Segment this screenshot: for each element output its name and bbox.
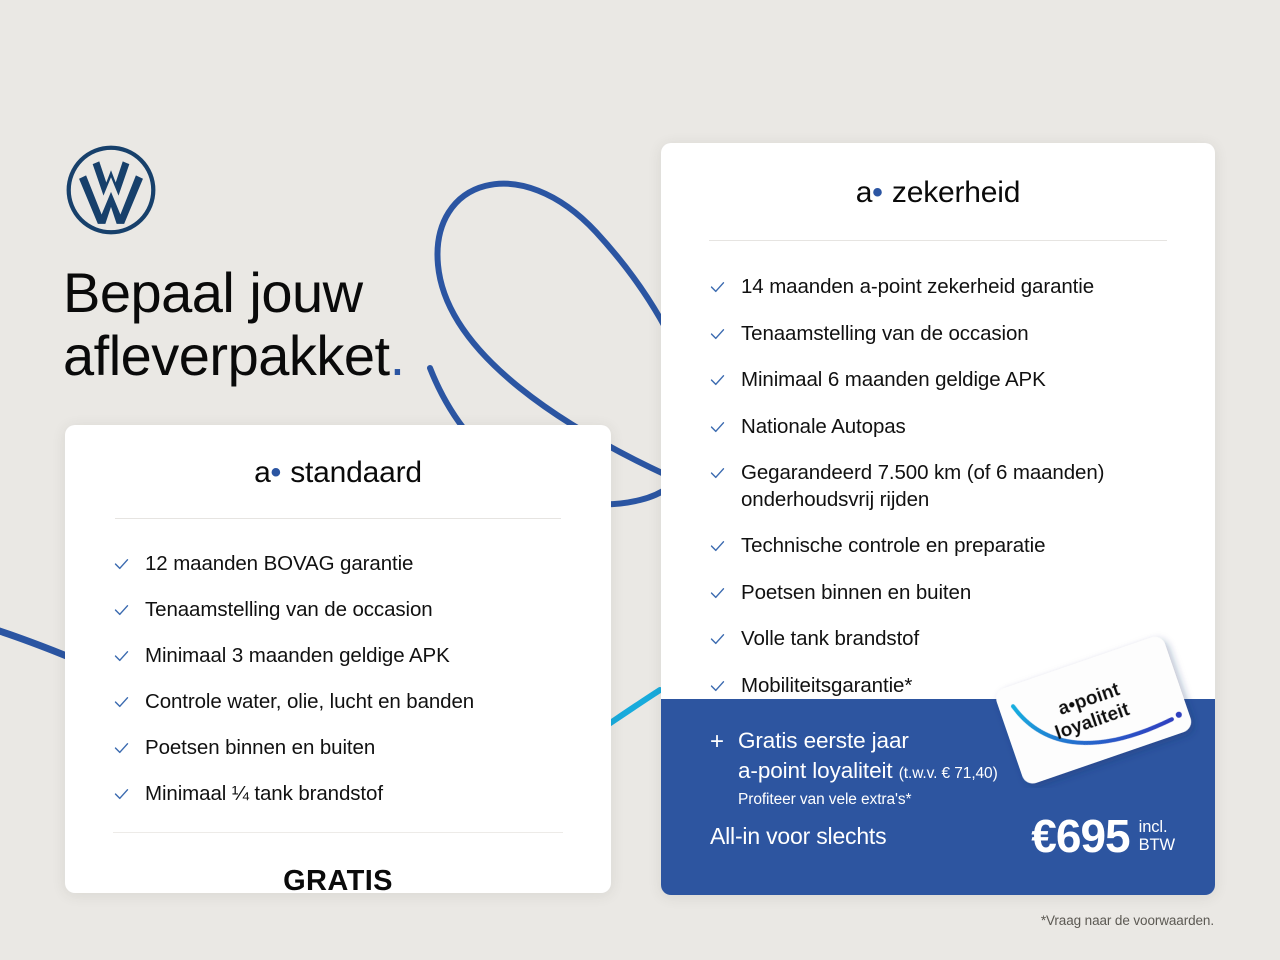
zekerheid-card-title: a• zekerheid [661, 143, 1215, 210]
list-item: Nationale Autopas [709, 413, 1215, 441]
list-item-label: Poetsen binnen en buiten [145, 734, 375, 761]
list-item: Poetsen binnen en buiten [113, 734, 611, 762]
price-amount: €695 [1031, 813, 1129, 859]
check-icon [709, 274, 726, 301]
list-item-label: 14 maanden a-point zekerheid garantie [741, 273, 1094, 300]
list-item: Controle water, olie, lucht en banden [113, 688, 611, 716]
headline-line-2: afleverpakket [63, 324, 390, 387]
list-item-label: Minimaal ¼ tank brandstof [145, 780, 383, 807]
page-title: Bepaal jouw afleverpakket. [63, 262, 623, 387]
bonus-line-1: Gratis eerste jaar [738, 726, 998, 756]
list-item: Tenaamstelling van de occasion [709, 320, 1215, 348]
vat-line-2: BTW [1139, 836, 1175, 854]
list-item: 12 maanden BOVAG garantie [113, 550, 611, 578]
check-icon [113, 735, 130, 762]
list-item: Minimaal 3 maanden geldige APK [113, 642, 611, 670]
zekerheid-title-a: a [856, 176, 873, 209]
list-item-label: Nationale Autopas [741, 413, 906, 440]
standaard-title-a: a [254, 456, 271, 489]
list-item-label: Technische controle en preparatie [741, 532, 1045, 559]
footnote-text: *Vraag naar de voorwaarden. [1041, 913, 1214, 928]
list-item-label: Minimaal 6 maanden geldige APK [741, 366, 1046, 393]
check-icon [113, 689, 130, 716]
package-card-standaard[interactable]: a• standaard 12 maanden BOVAG garantie T… [65, 425, 611, 893]
price-vat-note: incl. BTW [1139, 818, 1175, 855]
list-item: Technische controle en preparatie [709, 532, 1215, 560]
headline-line-1: Bepaal jouw [63, 261, 363, 324]
check-icon [113, 781, 130, 808]
list-item-label: Poetsen binnen en buiten [741, 579, 971, 606]
zekerheid-header-divider [709, 240, 1167, 241]
list-item: Poetsen binnen en buiten [709, 579, 1215, 607]
check-icon [709, 626, 726, 653]
list-item-label: Controle water, olie, lucht en banden [145, 688, 474, 715]
list-item-label: 12 maanden BOVAG garantie [145, 550, 413, 577]
price-row: All-in voor slechts €695 incl. BTW [710, 813, 1175, 859]
standaard-header-divider [115, 518, 561, 519]
check-icon [709, 414, 726, 441]
check-icon [113, 597, 130, 624]
list-item: Tenaamstelling van de occasion [113, 596, 611, 624]
standaard-title-rest: standaard [282, 456, 422, 489]
plus-icon: + [710, 730, 724, 754]
standaard-feature-list: 12 maanden BOVAG garantie Tenaamstelling… [113, 550, 611, 808]
list-item-label: Mobiliteitsgarantie* [741, 672, 912, 699]
list-item: 14 maanden a-point zekerheid garantie [709, 273, 1215, 301]
standaard-price-divider [113, 832, 563, 833]
check-icon [709, 321, 726, 348]
standaard-price-label: GRATIS [65, 865, 611, 893]
check-icon [113, 643, 130, 670]
zekerheid-title-rest: zekerheid [884, 176, 1020, 209]
loyalty-bonus-block: + Gratis eerste jaar a-point loyaliteit … [710, 726, 998, 809]
check-icon [709, 533, 726, 560]
list-item: Minimaal 6 maanden geldige APK [709, 366, 1215, 394]
check-icon [709, 673, 726, 700]
price-group: €695 incl. BTW [1031, 813, 1175, 859]
list-item-label: Minimaal 3 maanden geldige APK [145, 642, 450, 669]
promo-page: Bepaal jouw afleverpakket. a• standaard … [0, 0, 1280, 960]
headline-accent-dot: . [390, 324, 405, 387]
allin-label: All-in voor slechts [710, 823, 886, 850]
volkswagen-logo-icon [64, 143, 158, 237]
list-item-label: Tenaamstelling van de occasion [741, 320, 1029, 347]
list-item: Minimaal ¼ tank brandstof [113, 780, 611, 808]
loyalty-card-image: a•point loyaliteit [988, 628, 1200, 788]
bonus-value: (t.w.v. € 71,40) [899, 765, 998, 782]
standaard-title-dot-icon: • [271, 456, 283, 489]
list-item: Gegarandeerd 7.500 km (of 6 maanden) ond… [709, 459, 1215, 514]
check-icon [709, 460, 726, 487]
list-item-label: Volle tank brandstof [741, 625, 919, 652]
zekerheid-title-dot-icon: • [872, 176, 884, 209]
list-item-label: Tenaamstelling van de occasion [145, 596, 433, 623]
check-icon [709, 580, 726, 607]
standaard-card-title: a• standaard [65, 425, 611, 490]
vat-line-1: incl. [1139, 818, 1168, 836]
check-icon [709, 367, 726, 394]
list-item-label: Gegarandeerd 7.500 km (of 6 maanden) ond… [741, 459, 1181, 514]
bonus-line-2: a-point loyaliteit [738, 758, 893, 783]
check-icon [113, 551, 130, 578]
bonus-subtext: Profiteer van vele extra's* [738, 791, 998, 809]
